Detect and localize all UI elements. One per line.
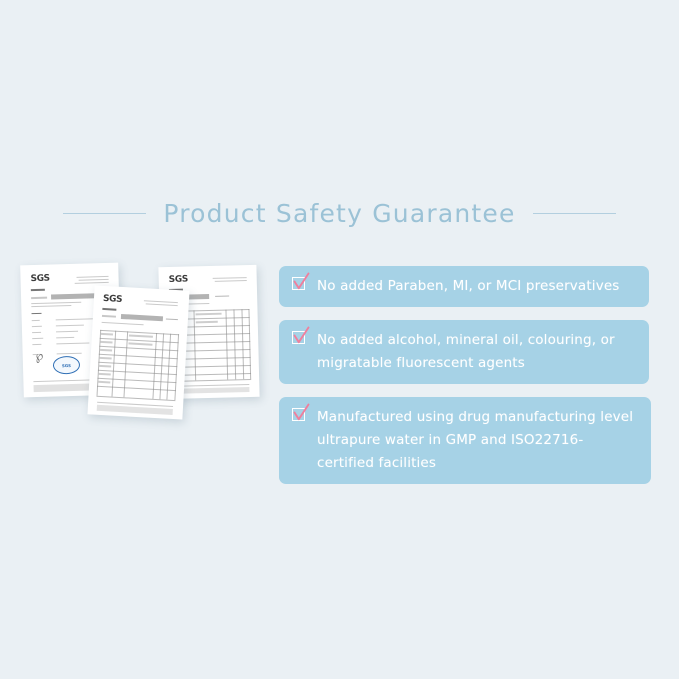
- guarantee-claim-item: Manufactured using drug manufacturing le…: [279, 397, 651, 484]
- sgs-seal-stamp: SGS: [53, 356, 80, 375]
- sgs-logo-icon: SGS: [169, 275, 188, 285]
- certificate-document-2: SGS: [87, 285, 189, 419]
- checkbox-checked-icon: [292, 277, 307, 292]
- sgs-logo-icon: SGS: [30, 274, 49, 285]
- guarantee-claim-list: No added Paraben, MI, or MCI preservativ…: [279, 266, 651, 497]
- header-rule-right: [533, 213, 616, 214]
- checkbox-checked-icon: [292, 331, 307, 346]
- guarantee-claim-item: No added Paraben, MI, or MCI preservativ…: [279, 266, 649, 307]
- report-table: [97, 330, 180, 400]
- guarantee-claim-item: No added alcohol, mineral oil, colouring…: [279, 320, 649, 384]
- claim-text: No added Paraben, MI, or MCI preservativ…: [317, 275, 619, 298]
- safety-guarantee-panel: Product Safety Guarantee SGS: [0, 0, 679, 679]
- sgs-logo-icon: SGS: [103, 294, 123, 305]
- checkbox-checked-icon: [292, 408, 307, 423]
- claim-text: No added alcohol, mineral oil, colouring…: [317, 329, 637, 375]
- signature: ℘: [33, 348, 44, 364]
- claim-text: Manufactured using drug manufacturing le…: [317, 406, 639, 475]
- certificate-gallery: SGS ℘ SGS: [0, 0, 290, 470]
